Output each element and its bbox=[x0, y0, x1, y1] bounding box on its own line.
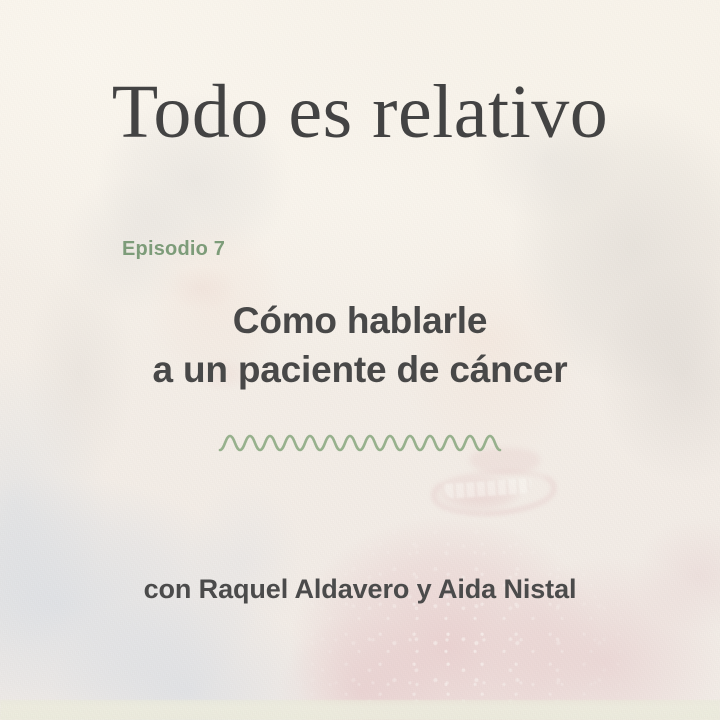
show-title: Todo es relativo bbox=[0, 74, 720, 150]
episode-cover-poster: Todo es relativo Episodio 7 Cómo hablarl… bbox=[0, 0, 720, 720]
episode-subtitle: Cómo hablarle a un paciente de cáncer bbox=[0, 296, 720, 394]
wavy-line-divider-icon bbox=[218, 428, 502, 458]
episode-credits: con Raquel Aldavero y Aida Nistal bbox=[0, 574, 720, 605]
photo-bottom-band bbox=[0, 700, 720, 720]
episode-label: Episodio 7 bbox=[122, 238, 225, 261]
episode-subtitle-line-2: a un paciente de cáncer bbox=[0, 345, 720, 394]
episode-subtitle-line-1: Cómo hablarle bbox=[0, 296, 720, 345]
